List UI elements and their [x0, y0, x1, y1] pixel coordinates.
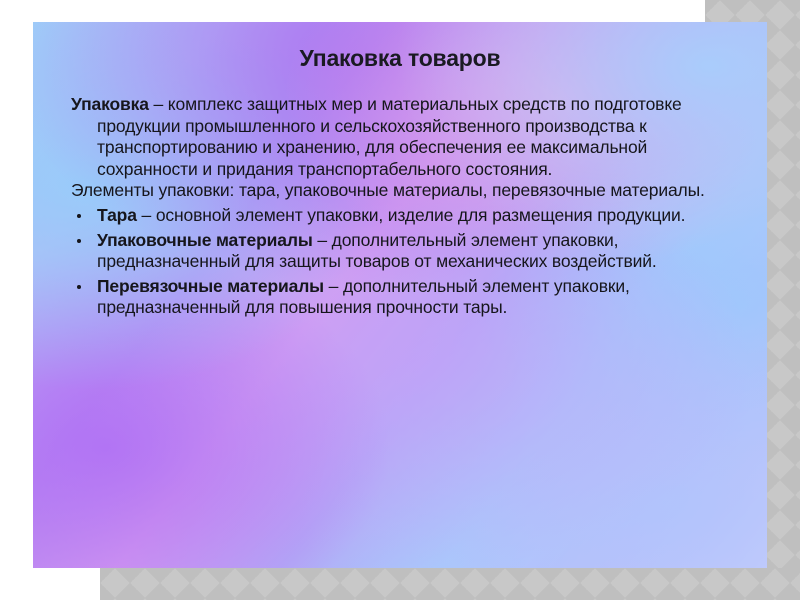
background-checker-pattern-bottom: [100, 568, 800, 600]
presentation-slide: Упаковка товаров Упаковка – комплекс защ…: [33, 22, 767, 568]
paragraph-body: Элементы упаковки: тара, упаковочные мат…: [71, 180, 705, 200]
list-item-body: – основной элемент упаковки, изделие для…: [137, 205, 686, 225]
paragraph-definition: Упаковка – комплекс защитных мер и матер…: [71, 94, 726, 180]
paragraph-lead-term: Упаковка: [71, 94, 149, 114]
paragraph-body: – комплекс защитных мер и материальных с…: [97, 94, 682, 179]
bullet-dot-icon: [77, 239, 81, 243]
page-canvas: Упаковка товаров Упаковка – комплекс защ…: [0, 0, 800, 600]
bullet-list: Тара – основной элемент упаковки, издели…: [71, 205, 726, 319]
slide-content: Упаковка товаров Упаковка – комплекс защ…: [33, 22, 767, 568]
list-item: Тара – основной элемент упаковки, издели…: [71, 205, 726, 227]
list-item-lead-term: Упаковочные материалы: [97, 230, 313, 250]
list-item-lead-term: Тара: [97, 205, 137, 225]
list-item-lead-term: Перевязочные материалы: [97, 276, 324, 296]
slide-title: Упаковка товаров: [33, 45, 767, 72]
slide-text-block: Упаковка – комплекс защитных мер и матер…: [71, 94, 726, 319]
bullet-dot-icon: [77, 214, 81, 218]
paragraph-elements: Элементы упаковки: тара, упаковочные мат…: [71, 180, 726, 202]
bullet-dot-icon: [77, 285, 81, 289]
list-item: Перевязочные материалы – дополнительный …: [71, 276, 726, 319]
list-item: Упаковочные материалы – дополнительный э…: [71, 230, 726, 273]
